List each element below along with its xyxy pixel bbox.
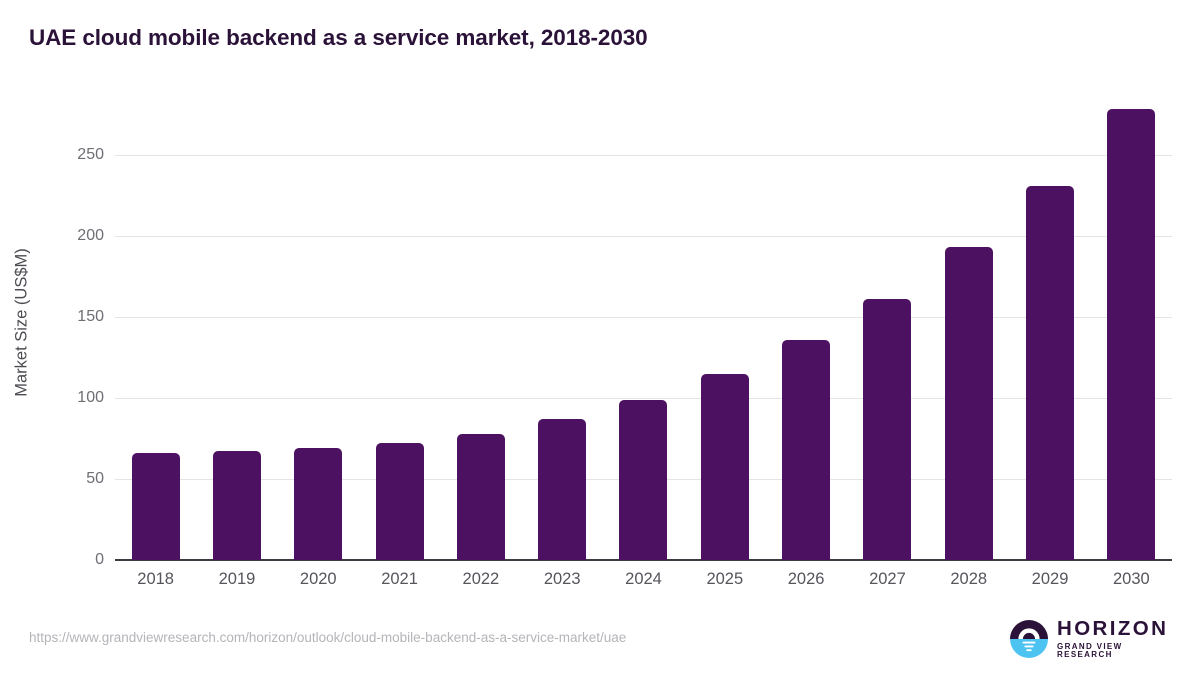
bar-group[interactable] bbox=[440, 90, 521, 560]
y-axis-title: Market Size (US$M) bbox=[13, 113, 32, 533]
bar[interactable] bbox=[538, 419, 586, 560]
bar-group[interactable] bbox=[278, 90, 359, 560]
bar[interactable] bbox=[701, 374, 749, 560]
bar[interactable] bbox=[1026, 186, 1074, 560]
x-tick-label: 2030 bbox=[1113, 570, 1150, 589]
x-tick-label: 2026 bbox=[788, 570, 825, 589]
bar[interactable] bbox=[213, 451, 261, 560]
chart-page: UAE cloud mobile backend as a service ma… bbox=[0, 0, 1200, 675]
x-axis-tick-labels: 2018201920202021202220232024202520262027… bbox=[115, 570, 1172, 600]
horizon-logo[interactable]: HORIZON GRAND VIEW RESEARCH bbox=[1010, 618, 1170, 660]
bar-group[interactable] bbox=[115, 90, 196, 560]
bar-group[interactable] bbox=[847, 90, 928, 560]
bar-group[interactable] bbox=[359, 90, 440, 560]
page-title: UAE cloud mobile backend as a service ma… bbox=[29, 25, 648, 51]
bar-group[interactable] bbox=[684, 90, 765, 560]
bar-group[interactable] bbox=[765, 90, 846, 560]
bar-group[interactable] bbox=[522, 90, 603, 560]
horizon-logo-icon bbox=[1010, 620, 1048, 658]
y-tick-label: 0 bbox=[0, 551, 104, 569]
bar-group[interactable] bbox=[1009, 90, 1090, 560]
bar[interactable] bbox=[619, 400, 667, 560]
x-tick-label: 2029 bbox=[1032, 570, 1069, 589]
horizon-wordmark: HORIZON bbox=[1057, 619, 1170, 640]
horizon-logo-text: HORIZON GRAND VIEW RESEARCH bbox=[1057, 619, 1170, 659]
bar-group[interactable] bbox=[928, 90, 1009, 560]
source-url[interactable]: https://www.grandviewresearch.com/horizo… bbox=[29, 630, 626, 645]
bars-layer bbox=[115, 90, 1172, 560]
x-tick-label: 2023 bbox=[544, 570, 581, 589]
x-tick-label: 2025 bbox=[706, 570, 743, 589]
bar-group[interactable] bbox=[1091, 90, 1172, 560]
bar[interactable] bbox=[132, 453, 180, 560]
bar[interactable] bbox=[863, 299, 911, 560]
x-tick-label: 2020 bbox=[300, 570, 337, 589]
bar-group[interactable] bbox=[603, 90, 684, 560]
x-tick-label: 2021 bbox=[381, 570, 418, 589]
bar[interactable] bbox=[1107, 109, 1155, 560]
bar-group[interactable] bbox=[196, 90, 277, 560]
x-tick-label: 2022 bbox=[463, 570, 500, 589]
x-tick-label: 2024 bbox=[625, 570, 662, 589]
bar[interactable] bbox=[782, 340, 830, 560]
x-tick-label: 2019 bbox=[219, 570, 256, 589]
x-tick-label: 2018 bbox=[137, 570, 174, 589]
bar[interactable] bbox=[376, 443, 424, 560]
bar[interactable] bbox=[945, 247, 993, 560]
bar[interactable] bbox=[294, 448, 342, 560]
x-tick-label: 2028 bbox=[950, 570, 987, 589]
horizon-tagline: GRAND VIEW RESEARCH bbox=[1057, 643, 1170, 659]
bar[interactable] bbox=[457, 434, 505, 560]
x-tick-label: 2027 bbox=[869, 570, 906, 589]
